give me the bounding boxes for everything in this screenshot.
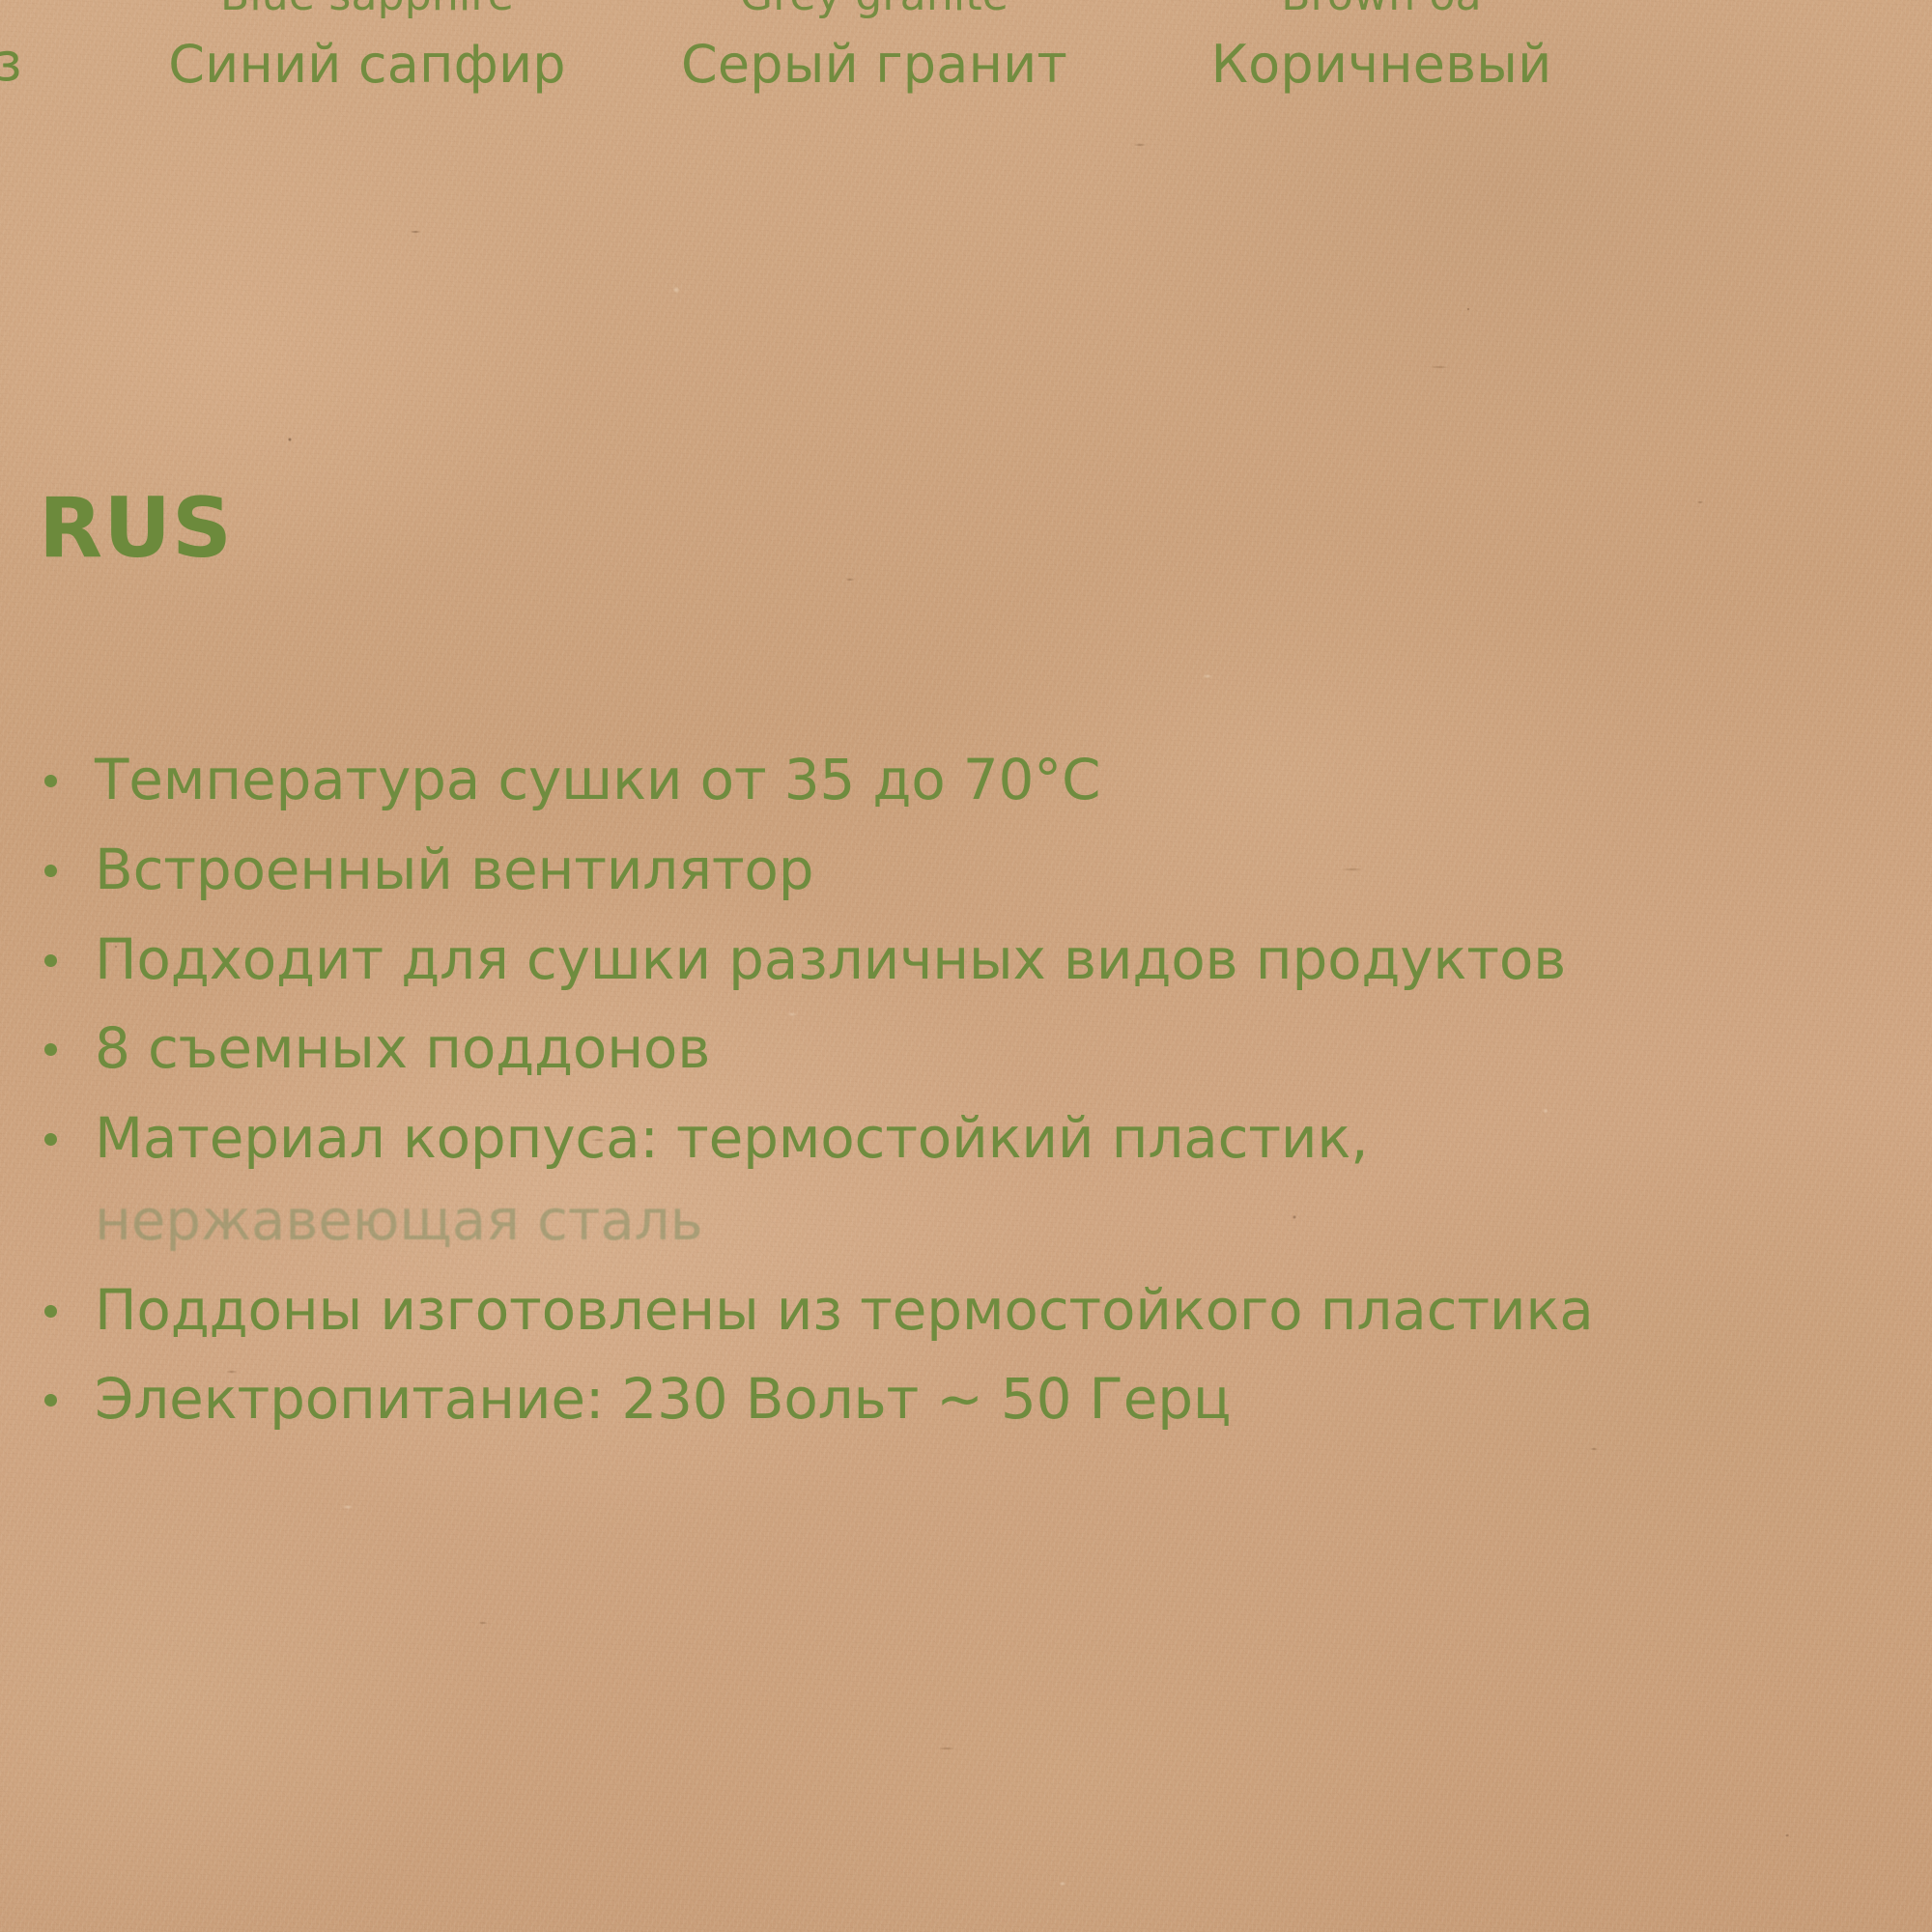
spec-item-text: Подходит для сушки различных видов проду… <box>95 926 1566 992</box>
specification-list: Температура сушки от 35 до 70°C Встроенн… <box>35 746 1928 1455</box>
spec-item-text: Встроенный вентилятор <box>95 837 813 902</box>
bullet-dot-icon <box>44 1133 57 1146</box>
colour-name-en: Brown oa <box>1140 0 1623 17</box>
colour-name-ru: Серый гранит <box>633 39 1116 91</box>
spec-item-continuation-faded: нержавеющая сталь <box>95 1186 1928 1255</box>
spec-list-item: 8 съемных поддонов <box>35 1014 1928 1083</box>
colour-partial-left-fragment: з <box>0 37 22 89</box>
colour-name-ru: Коричневый <box>1140 39 1623 91</box>
kraft-package-panel: з Blue sapphire Синий сапфир Grey granit… <box>0 0 1932 1932</box>
bullet-dot-icon <box>44 1305 57 1318</box>
spec-item-text: Электропитание: 230 Вольт ~ 50 Герц <box>95 1366 1231 1432</box>
spec-item-text: Температура сушки от 35 до 70°C <box>95 747 1100 812</box>
bullet-dot-icon <box>44 865 57 877</box>
bullet-dot-icon <box>44 1394 57 1406</box>
spec-list-item: Встроенный вентилятор <box>35 836 1928 904</box>
colour-variant-row: з Blue sapphire Синий сапфир Grey granit… <box>0 0 1932 116</box>
spec-list-item: Материал корпуса: термостойкий пластик, … <box>35 1104 1928 1255</box>
colour-variant-brown-oak: Brown oa Коричневый <box>1140 0 1623 91</box>
printed-content: з Blue sapphire Синий сапфир Grey granit… <box>0 0 1932 1932</box>
spec-item-text: Материал корпуса: термостойкий пластик, <box>95 1105 1368 1171</box>
spec-list-item: Подходит для сушки различных видов проду… <box>35 925 1928 994</box>
colour-name-ru: Синий сапфир <box>126 39 609 91</box>
colour-name-en: Grey granite <box>633 0 1116 17</box>
spec-item-text: Поддоны изготовлены из термостойкого пла… <box>95 1277 1594 1343</box>
colour-name-en: Blue sapphire <box>126 0 609 17</box>
colour-variant-blue-sapphire: Blue sapphire Синий сапфир <box>126 0 609 91</box>
colour-variant-grey-granite: Grey granite Серый гранит <box>633 0 1116 91</box>
bullet-dot-icon <box>44 954 57 967</box>
spec-item-text: 8 съемных поддонов <box>95 1015 710 1081</box>
language-section-heading: RUS <box>39 487 233 570</box>
spec-list-item: Электропитание: 230 Вольт ~ 50 Герц <box>35 1365 1928 1434</box>
bullet-dot-icon <box>44 1043 57 1056</box>
spec-list-item: Температура сушки от 35 до 70°C <box>35 746 1928 814</box>
bullet-dot-icon <box>44 775 57 787</box>
spec-list-item: Поддоны изготовлены из термостойкого пла… <box>35 1276 1928 1345</box>
